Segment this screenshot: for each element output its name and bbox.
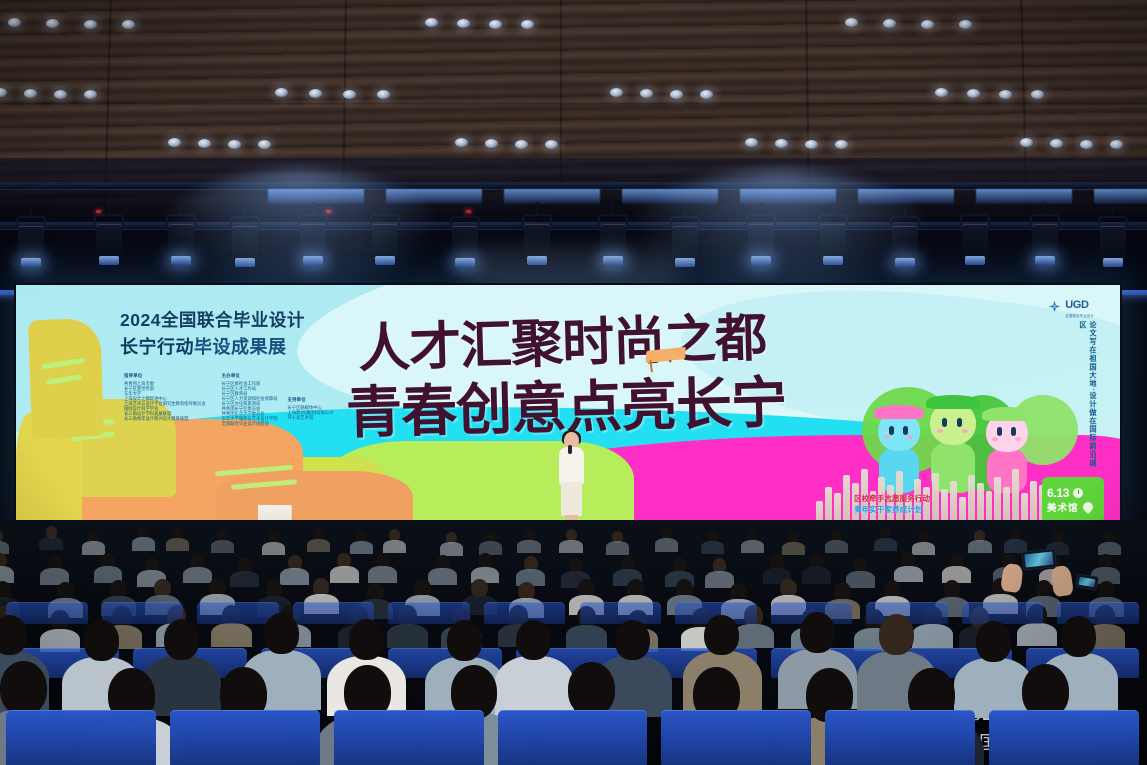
audience-head [704, 615, 739, 656]
stage-light-fixture [1100, 226, 1126, 260]
audience-shoulders [183, 567, 212, 584]
audience-head [447, 620, 482, 661]
ceiling-downlight [515, 140, 528, 149]
rig-hanger [30, 204, 32, 218]
event-venue: 美术馆 [1047, 500, 1079, 514]
audience-shoulders [428, 568, 457, 585]
audience-phone [1075, 573, 1099, 591]
ceiling-downlight [883, 19, 896, 28]
rig-light-slot [858, 189, 954, 204]
auditorium-seat [334, 710, 484, 765]
audience-head [516, 620, 551, 661]
audience-shoulders [262, 542, 285, 555]
audience-head [164, 619, 199, 660]
ceiling-downlight [745, 138, 758, 147]
audience-shoulders [912, 624, 953, 647]
audience-shoulders [440, 542, 463, 555]
ceiling-downlight [455, 138, 468, 147]
auditorium-seat [102, 602, 184, 624]
audience-shoulders [968, 540, 991, 553]
callout-line-2: 青年实干家养成计划 [854, 504, 930, 515]
audience-head [800, 612, 835, 653]
auditorium-seat [825, 710, 975, 765]
ceiling-downlight [425, 18, 438, 27]
stage-light-fixture [300, 224, 326, 258]
audience-shoulders [825, 540, 848, 553]
audience-shoulders [142, 656, 221, 717]
auditorium-seat [498, 710, 648, 765]
ceiling-downlight [935, 88, 948, 97]
audience-shoulders [701, 541, 724, 554]
credit-heading: 主办单位 [222, 373, 278, 379]
audience-head [976, 621, 1011, 662]
banner-ugd-subtitle: 全国联合毕业设计 [1065, 313, 1094, 318]
stage-light-fixture [372, 224, 398, 258]
credit-heading: 支持单位 [288, 397, 334, 403]
ceiling-downlight [228, 140, 241, 149]
audience-shoulders [383, 540, 406, 553]
ceiling-downlight [921, 20, 934, 29]
ceiling-downlight [999, 90, 1012, 99]
microphone-icon [568, 445, 572, 454]
banner-title-line2-bold: 长宁行动 [120, 337, 194, 357]
auditorium-seat [989, 710, 1139, 765]
callout-line-1: 区校牵手志愿服务行动 [854, 493, 930, 504]
audience-shoulders [874, 538, 897, 551]
audience-head [568, 662, 615, 716]
banner-title-line2-rest: 毕设成果展 [194, 337, 287, 357]
audience-shoulders [942, 566, 971, 583]
audience-shoulders [655, 538, 678, 551]
stage-light-fixture [18, 226, 44, 260]
rig-hanger [760, 202, 762, 216]
stage-light-fixture [524, 224, 550, 258]
audience-shoulders [705, 571, 734, 588]
event-date: 6.13 [1047, 486, 1069, 500]
rig-hanger [832, 202, 834, 216]
auditorium-seat [661, 710, 811, 765]
ceiling-downlight [640, 89, 653, 98]
audience-shoulders [1017, 623, 1058, 646]
auditorium-seat [6, 710, 156, 765]
ceiling-downlight [1050, 139, 1063, 148]
rig-hanger [684, 204, 686, 218]
banner-event-info: 6.13 美术馆 [1042, 477, 1104, 523]
ceiling-downlight [84, 20, 97, 29]
credit-heading: 指导单位 [124, 373, 206, 379]
credit-column: 主办单位长宁区委社会工作部长宁区人才工作局长宁区教育局长宁区人力资源和社会保障局… [222, 373, 278, 426]
audience-shoulders [1098, 542, 1121, 555]
ceiling-downlight [343, 90, 356, 99]
banner-headline: 人才汇聚时尚之都 青春创意点亮长宁 [346, 301, 866, 451]
audience-head [0, 661, 47, 715]
auditorium-seat [484, 602, 566, 624]
ceiling-downlight [457, 19, 470, 28]
rig-light-slot [622, 189, 718, 204]
audience-shoulders [912, 542, 935, 555]
rig-hanger [312, 202, 314, 216]
audience-shoulders [387, 624, 428, 647]
audience-shoulders [846, 571, 875, 588]
banner-title-line2: 长宁行动毕设成果展 [120, 333, 287, 359]
rig-hanger [974, 202, 976, 216]
auditorium-seat [962, 602, 1044, 624]
audience-shoulders [559, 540, 582, 553]
rig-hanger [1112, 204, 1114, 218]
stage-light-fixture [820, 224, 846, 258]
audience-shoulders [802, 567, 831, 584]
rig-hanger [536, 202, 538, 216]
ceiling-downlight [168, 138, 181, 147]
audience-shoulders [211, 540, 234, 553]
ceiling-downlight [967, 89, 980, 98]
rig-light-slot [1094, 189, 1147, 204]
auditorium-seat [580, 602, 662, 624]
credit-column: 指导单位共青团上海市委长宁区委宣传部东华大学上海设计之都促进中心上海艺术与设计学… [124, 373, 206, 426]
ceiling-downlight [309, 89, 322, 98]
ceiling-downlight [8, 18, 21, 27]
credit-item: 环十发艺术馆 [288, 415, 334, 420]
rig-light-slot [976, 189, 1072, 204]
rig-hanger [1044, 202, 1046, 216]
audience-shoulders [782, 542, 805, 555]
rig-light-slot [386, 189, 482, 204]
audience-shoulders [495, 656, 574, 717]
ceiling-downlight [610, 88, 623, 97]
ceiling-downlight [775, 139, 788, 148]
stage-light-fixture [600, 224, 626, 258]
audience-shoulders [132, 537, 155, 550]
audience-phone [1021, 548, 1057, 570]
audience-head [84, 620, 119, 661]
audience-head [264, 613, 299, 654]
banner-vertical-slogan: 论文写在祖国大地·设计做在国际前沿城区 [1078, 321, 1098, 471]
audience-area [0, 520, 1147, 765]
ceiling-downlight [805, 140, 818, 149]
ceiling-downlight [24, 89, 37, 98]
ugd-flower-icon [1048, 300, 1061, 313]
stage-light-fixture [168, 224, 194, 258]
audience-head [349, 619, 384, 660]
rig-hanger [244, 204, 246, 218]
stage-light-fixture [892, 226, 918, 260]
audience-shoulders [894, 566, 923, 583]
clock-icon [1073, 488, 1083, 498]
credit-item: 长三角青年设计新兴设计教育联盟 [124, 416, 206, 421]
banner-ugd-wordmark: UGD [1065, 299, 1088, 311]
ceiling-downlight [1020, 138, 1033, 147]
audience-head [1061, 616, 1096, 657]
ceiling-downlight [670, 90, 683, 99]
banner-left-shape [28, 318, 104, 438]
audience-head [834, 582, 851, 600]
rig-hanger [384, 202, 386, 216]
stage-light-fixture [748, 224, 774, 258]
credit-item: 上海影创(集团)有限公司 [288, 410, 334, 415]
audience-shoulders [517, 540, 540, 553]
stage-lighting-rig [0, 158, 1147, 290]
audience-head [615, 620, 650, 661]
ceiling-downlight [198, 139, 211, 148]
banner-title-line1: 2024全国联合毕业设计 [120, 307, 305, 332]
audience-shoulders [230, 571, 259, 588]
banner-credits: 指导单位共青团上海市委长宁区委宣传部东华大学上海设计之都促进中心上海艺术与设计学… [124, 373, 364, 426]
ceiling-downlight [275, 88, 288, 97]
stage-light-fixture [452, 226, 478, 260]
rig-hanger [612, 202, 614, 216]
audience-head [879, 614, 914, 655]
credit-column: 支持单位长宁区融媒体中心上海影创(集团)有限公司环十发艺术馆 [288, 397, 334, 426]
ceiling-downlight [485, 139, 498, 148]
stage-light-fixture [962, 224, 988, 258]
photo-scene: UGD 全国联合毕业设计 2024全国联合毕业设计 长宁行动毕设成果展 指导单位… [0, 0, 1147, 765]
audience-shoulders [166, 538, 189, 551]
credit-item: 全国联合毕业设计组委会 [222, 421, 278, 426]
rig-light-slot [740, 189, 836, 204]
rig-light-slot [504, 189, 600, 204]
rig-hanger [904, 204, 906, 218]
audience-head [944, 580, 961, 598]
stage-light-fixture [232, 226, 258, 260]
ceiling-downlight [845, 18, 858, 27]
stage-light-fixture [1032, 224, 1058, 258]
audience-shoulders [307, 539, 330, 552]
banner-callout: 区校牵手志愿服务行动 青年实干家养成计划 [854, 493, 930, 515]
ceiling-downlight [489, 20, 502, 29]
location-pin-icon [1080, 500, 1094, 514]
audience-shoulders [39, 537, 62, 550]
ceiling-downlight [1080, 140, 1093, 149]
audience-shoulders [280, 568, 309, 585]
audience-shoulders [606, 541, 629, 554]
audience-shoulders [82, 541, 105, 554]
rig-hanger [180, 202, 182, 216]
audience-shoulders [211, 623, 252, 646]
audience-shoulders [741, 540, 764, 553]
rig-light-slot [268, 189, 364, 204]
banner-ugd-logo: UGD 全国联合毕业设计 [1048, 295, 1094, 318]
stage-light-fixture [96, 224, 122, 258]
audience-shoulders [350, 541, 373, 554]
ceiling-downlight [46, 19, 59, 28]
ceiling-downlight [54, 90, 67, 99]
auditorium-seat [170, 710, 320, 765]
audience-shoulders [566, 625, 607, 648]
stage-light-fixture [672, 226, 698, 260]
audience-shoulders [330, 566, 359, 583]
audience-shoulders [368, 566, 397, 583]
rig-hanger [108, 202, 110, 216]
